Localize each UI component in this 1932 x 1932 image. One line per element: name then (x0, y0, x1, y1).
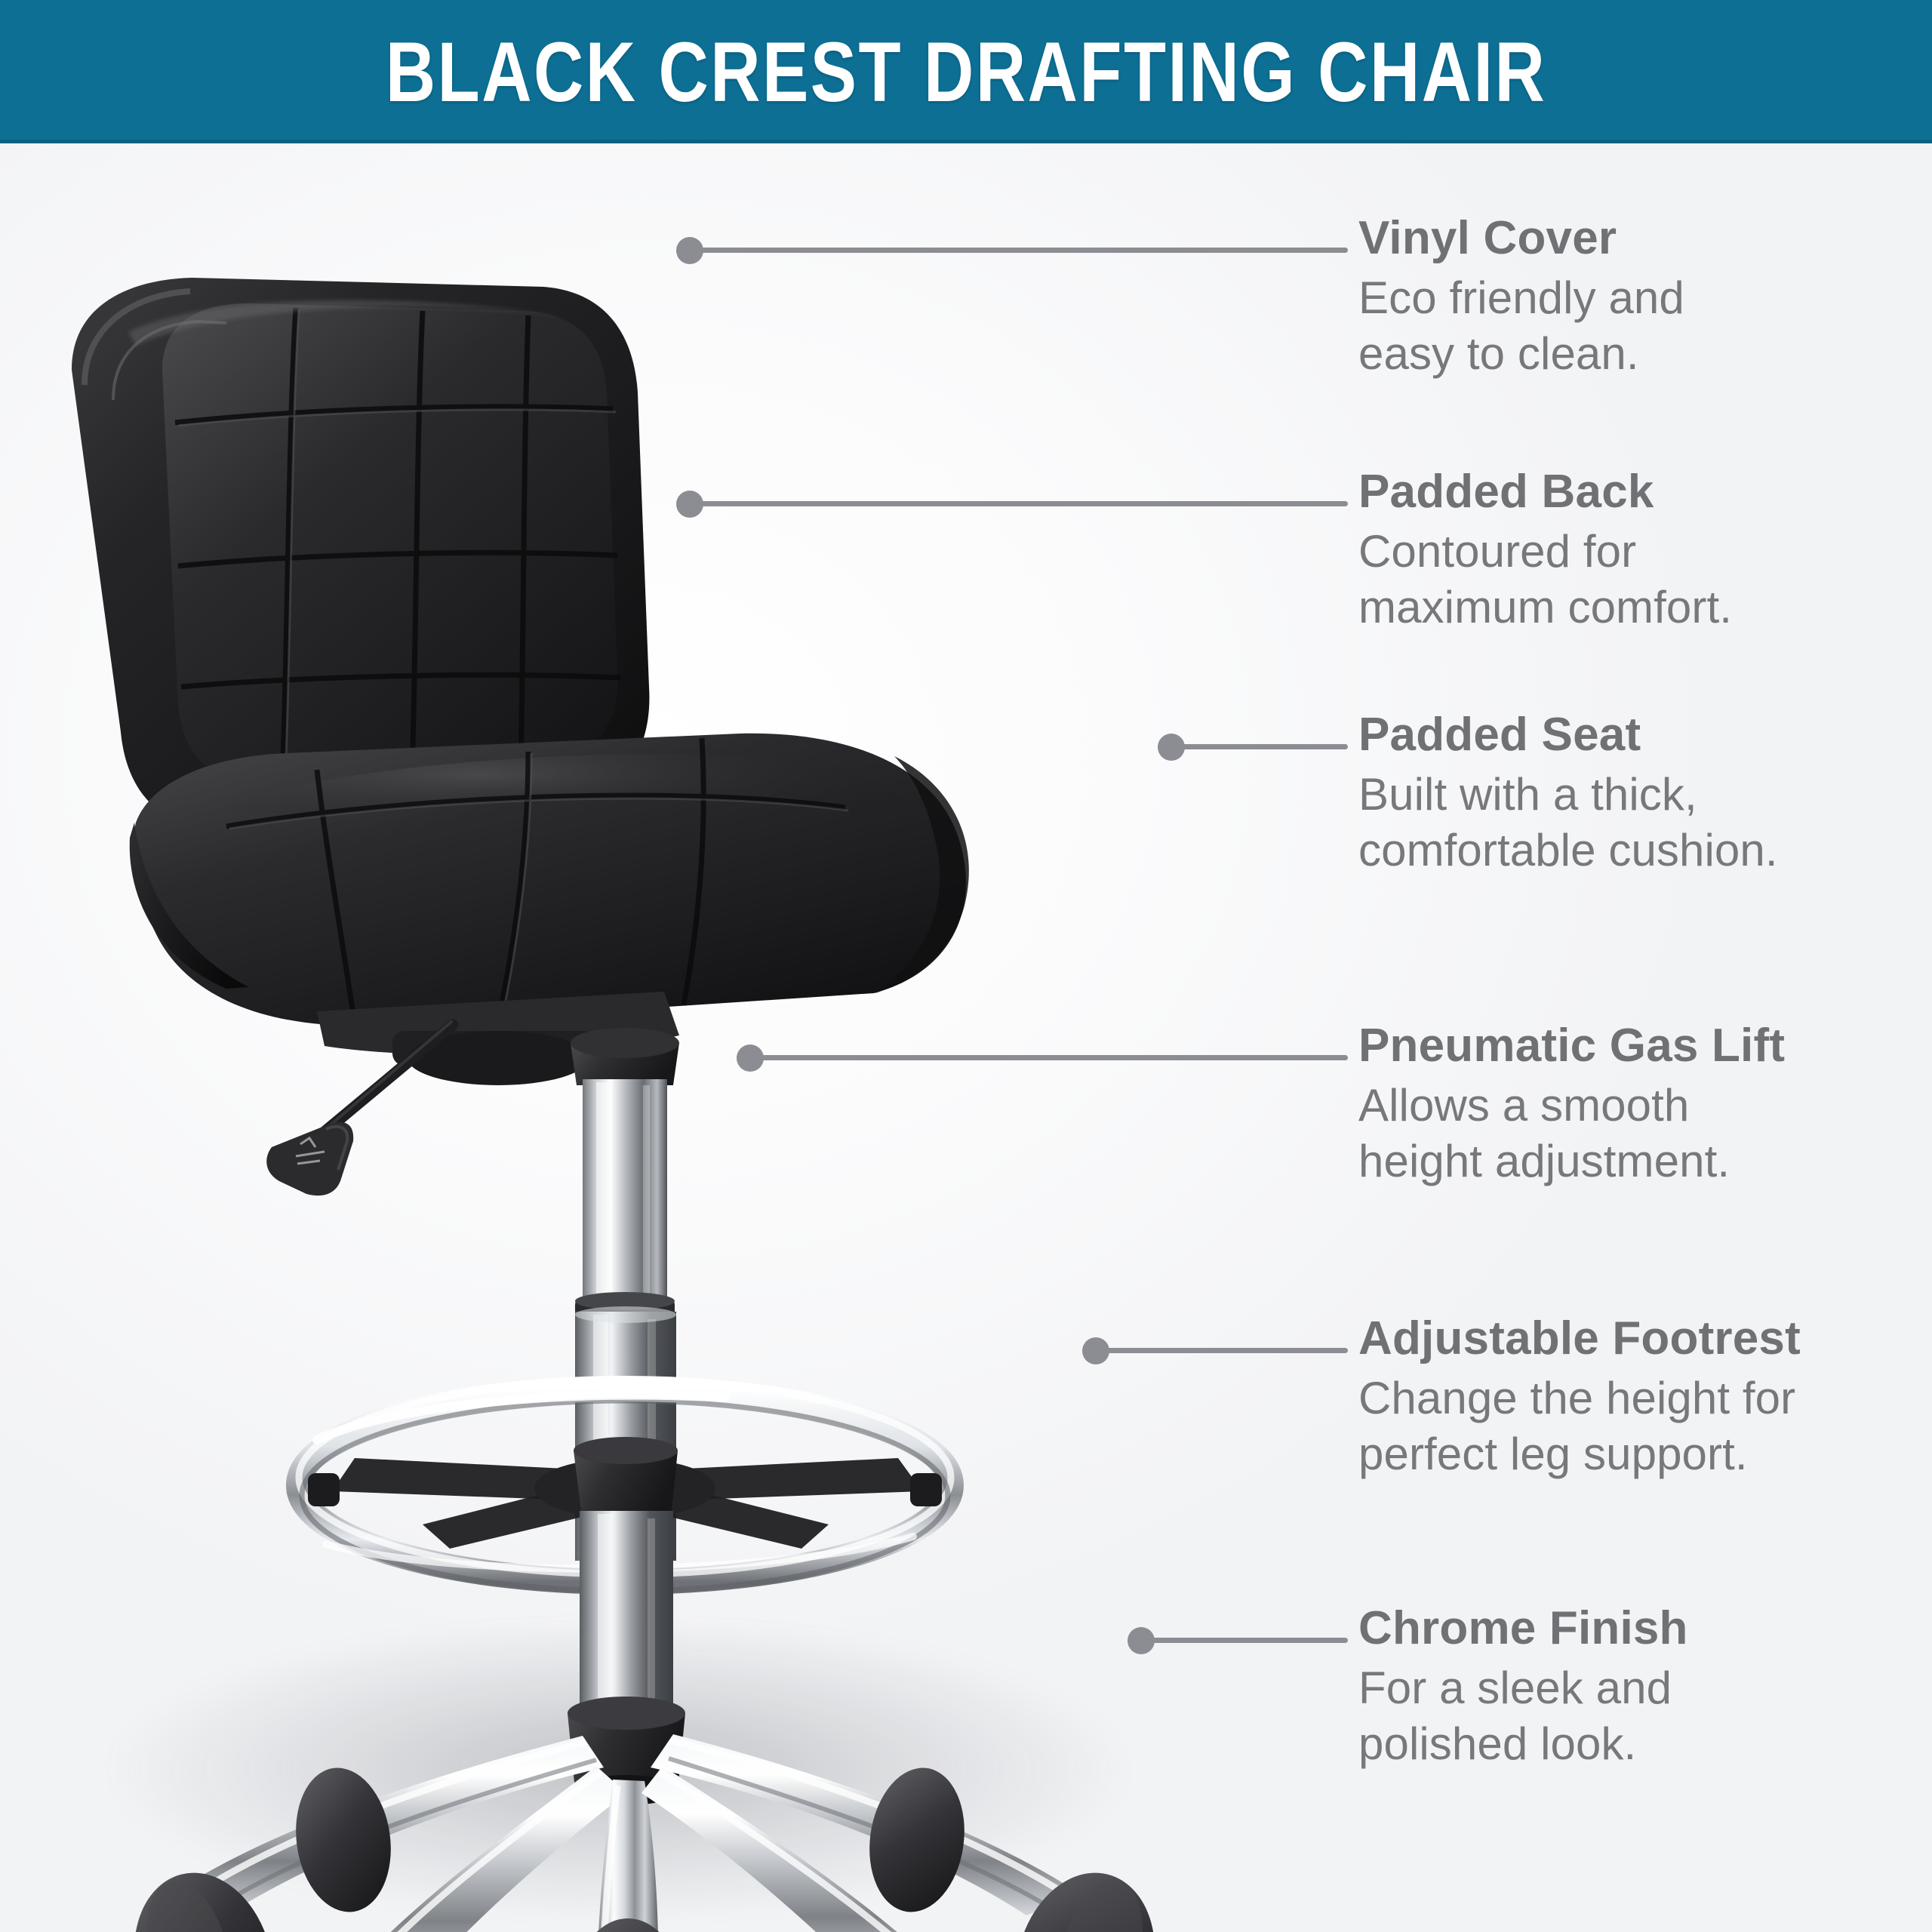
callout-line: Eco friendly and (1358, 270, 1684, 325)
callout-body-adjustable-footrest: Change the height for perfect leg suppor… (1358, 1371, 1801, 1481)
leader-line-padded-seat (1180, 744, 1348, 749)
callout-padded-back: Padded Back Contoured for maximum comfor… (1358, 468, 1732, 635)
chrome-five-star-base (115, 1697, 1174, 1932)
callout-line: Allows a smooth (1358, 1078, 1785, 1133)
callout-line: comfortable cushion. (1358, 823, 1778, 878)
callout-body-vinyl-cover: Eco friendly and easy to clean. (1358, 270, 1684, 380)
callout-title-chrome-finish: Chrome Finish (1358, 1604, 1688, 1653)
callout-title-pneumatic-gas-lift: Pneumatic Gas Lift (1358, 1022, 1785, 1070)
callout-chrome-finish: Chrome Finish For a sleek and polished l… (1358, 1604, 1688, 1771)
callout-body-chrome-finish: For a sleek and polished look. (1358, 1660, 1688, 1770)
chair-seat (130, 734, 969, 1026)
callout-pneumatic-gas-lift: Pneumatic Gas Lift Allows a smooth heigh… (1358, 1022, 1785, 1189)
leader-line-pneumatic-gas-lift (759, 1055, 1348, 1060)
leader-line-vinyl-cover (699, 248, 1348, 253)
leader-line-adjustable-footrest (1105, 1348, 1348, 1353)
product-image-drafting-chair (0, 143, 1283, 1932)
callout-line: maximum comfort. (1358, 580, 1732, 635)
callout-line: easy to clean. (1358, 326, 1684, 381)
callout-line: Change the height for (1358, 1371, 1801, 1426)
callout-line: Contoured for (1358, 524, 1732, 579)
callout-line: polished look. (1358, 1716, 1688, 1771)
infographic-canvas: Vinyl Cover Eco friendly and easy to cle… (0, 143, 1932, 1932)
callout-line: Built with a thick, (1358, 767, 1778, 822)
callout-title-padded-seat: Padded Seat (1358, 711, 1778, 759)
callout-line: height adjustment. (1358, 1134, 1785, 1189)
callout-title-padded-back: Padded Back (1358, 468, 1732, 516)
leader-line-chrome-finish (1150, 1638, 1348, 1643)
leader-line-padded-back (699, 501, 1348, 506)
callout-body-pneumatic-gas-lift: Allows a smooth height adjustment. (1358, 1078, 1785, 1188)
callout-adjustable-footrest: Adjustable Footrest Change the height fo… (1358, 1315, 1801, 1481)
backrest-face (162, 303, 618, 783)
page-title: BLACK CREST DRAFTING CHAIR (386, 23, 1546, 121)
callout-body-padded-back: Contoured for maximum comfort. (1358, 524, 1732, 634)
callout-line: For a sleek and (1358, 1660, 1688, 1715)
callout-padded-seat: Padded Seat Built with a thick, comforta… (1358, 711, 1778, 878)
callout-title-adjustable-footrest: Adjustable Footrest (1358, 1315, 1801, 1363)
callout-vinyl-cover: Vinyl Cover Eco friendly and easy to cle… (1358, 214, 1684, 381)
callout-body-padded-seat: Built with a thick, comfortable cushion. (1358, 767, 1778, 877)
header-banner: BLACK CREST DRAFTING CHAIR (0, 0, 1932, 143)
callout-line: perfect leg support. (1358, 1426, 1801, 1481)
callout-title-vinyl-cover: Vinyl Cover (1358, 214, 1684, 263)
